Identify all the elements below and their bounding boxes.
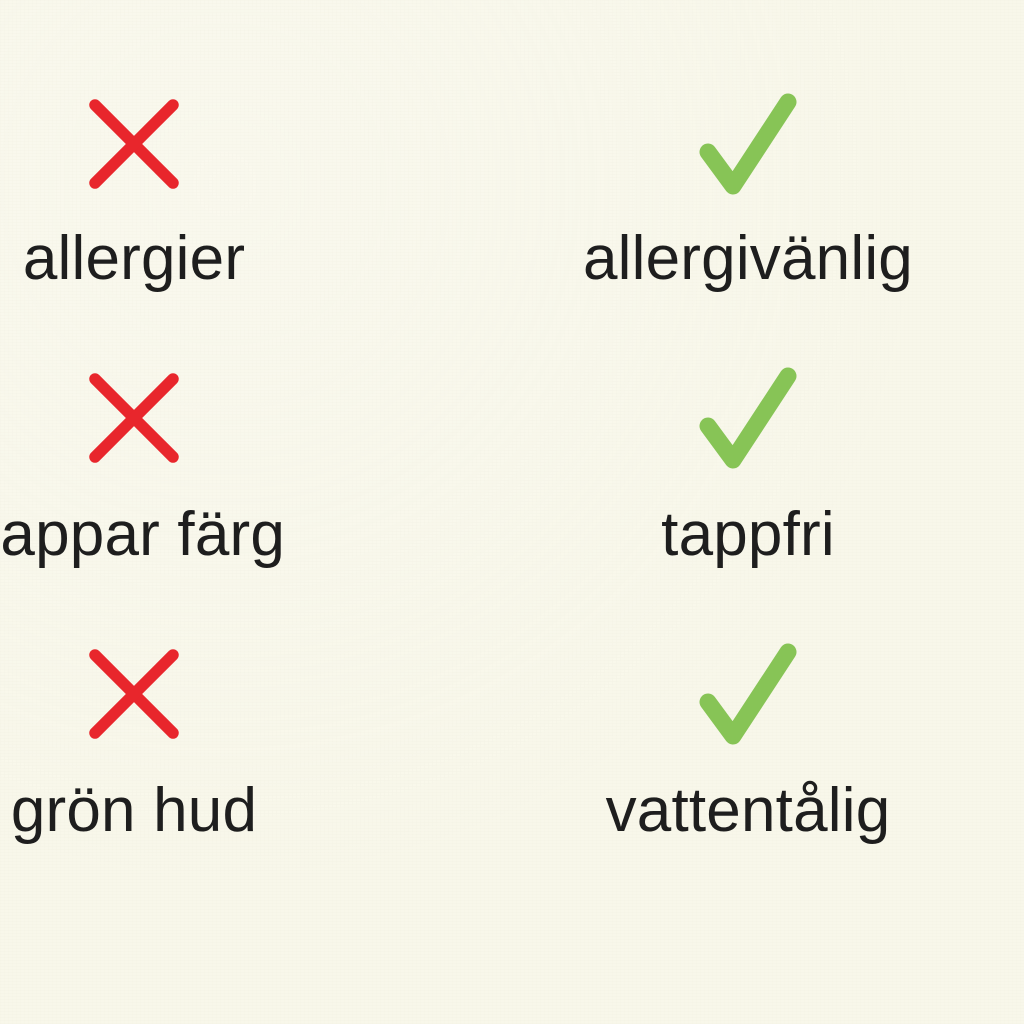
comparison-cell-negative-3: grön hud bbox=[0, 574, 512, 850]
check-icon bbox=[698, 634, 798, 754]
comparison-label-positive-1: allergivänlig bbox=[583, 228, 913, 290]
check-icon bbox=[698, 84, 798, 204]
comparison-grid: allergier allergivänlig tappar färg bbox=[0, 0, 1024, 1024]
comparison-cell-positive-2: tappfri bbox=[512, 298, 1024, 574]
comparison-label-negative-3: grön hud bbox=[11, 780, 257, 842]
comparison-label-positive-2: tappfri bbox=[661, 504, 835, 566]
comparison-graphic: allergier allergivänlig tappar färg bbox=[0, 0, 1024, 1024]
bottom-empty-space-left bbox=[0, 850, 512, 1024]
comparison-cell-positive-1: allergivänlig bbox=[512, 0, 1024, 298]
cross-icon bbox=[89, 358, 179, 478]
comparison-label-positive-3: vattentålig bbox=[606, 780, 891, 842]
cross-icon bbox=[89, 84, 179, 204]
comparison-cell-negative-1: allergier bbox=[0, 0, 512, 298]
check-icon bbox=[698, 358, 798, 478]
comparison-label-negative-1: allergier bbox=[23, 228, 245, 290]
comparison-cell-negative-2: tappar färg bbox=[0, 298, 512, 574]
cross-icon bbox=[89, 634, 179, 754]
comparison-cell-positive-3: vattentålig bbox=[512, 574, 1024, 850]
comparison-label-negative-2: tappar färg bbox=[0, 504, 285, 566]
bottom-empty-space-right bbox=[512, 850, 1024, 1024]
